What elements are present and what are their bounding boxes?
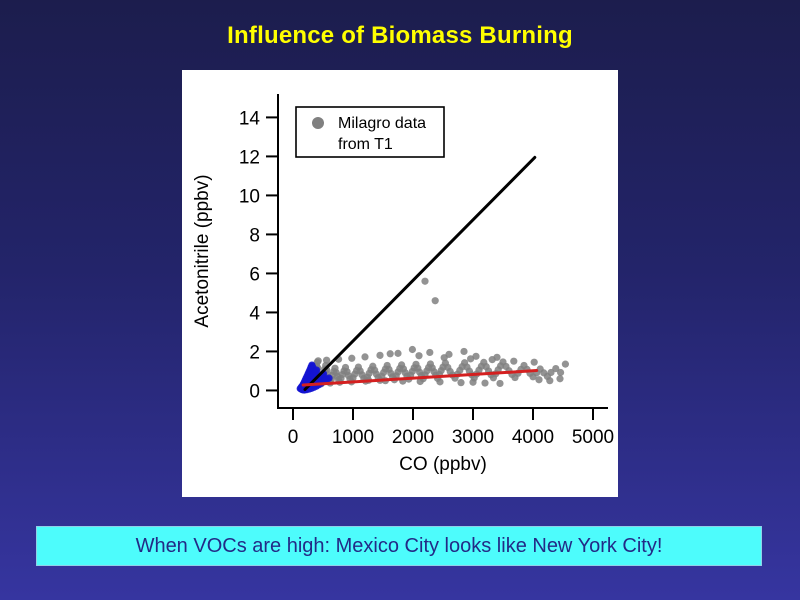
x-tick-label: 0: [288, 427, 299, 448]
x-tick-label: 4000: [512, 427, 554, 448]
data-point: [460, 348, 467, 355]
y-tick-label: 10: [239, 186, 260, 207]
data-point: [361, 353, 368, 360]
data-point: [467, 355, 474, 362]
data-point: [510, 358, 517, 365]
y-tick-label: 6: [249, 264, 260, 285]
data-point: [469, 379, 476, 386]
data-point: [531, 359, 538, 366]
takeaway-text: When VOCs are high: Mexico City looks li…: [136, 535, 663, 558]
y-axis-label: Acetonitrile (ppbv): [192, 174, 213, 327]
data-point: [387, 350, 394, 357]
legend-marker-icon: [312, 117, 324, 129]
data-point: [496, 380, 503, 387]
data-point: [323, 357, 330, 364]
data-point: [421, 278, 428, 285]
data-point: [432, 297, 439, 304]
y-tick-label: 12: [239, 147, 260, 168]
y-tick-label: 0: [249, 381, 260, 402]
chart-legend: Milagro data from T1: [296, 107, 444, 157]
data-point: [546, 377, 553, 384]
data-point: [409, 346, 416, 353]
data-point: [325, 375, 332, 382]
data-point: [535, 376, 542, 383]
x-tick-label: 2000: [392, 427, 434, 448]
x-tick-label: 5000: [572, 427, 614, 448]
data-point: [562, 361, 569, 368]
x-tick-label: 1000: [332, 427, 374, 448]
data-point: [315, 357, 322, 364]
x-axis-label: CO (ppbv): [399, 454, 487, 475]
page-title: Influence of Biomass Burning: [0, 22, 800, 50]
data-point: [415, 352, 422, 359]
chart-panel: 02468101214 010002000300040005000 CO (pp…: [182, 70, 618, 497]
data-point: [426, 349, 433, 356]
y-tick-label: 14: [239, 108, 261, 129]
x-tick-label: 3000: [452, 427, 494, 448]
legend-label-line1: Milagro data: [338, 115, 426, 132]
data-point: [441, 354, 448, 361]
data-point: [376, 352, 383, 359]
legend-label-line2: from T1: [338, 136, 393, 153]
data-point: [481, 379, 488, 386]
takeaway-banner: When VOCs are high: Mexico City looks li…: [36, 526, 762, 566]
scatter-chart: 02468101214 010002000300040005000 CO (pp…: [182, 70, 618, 497]
data-point: [436, 378, 443, 385]
data-point: [394, 350, 401, 357]
data-point: [313, 367, 320, 374]
y-tick-label: 8: [249, 225, 260, 246]
y-tick-label: 2: [249, 342, 260, 363]
data-point: [457, 379, 464, 386]
data-point: [556, 375, 563, 382]
data-point: [557, 369, 564, 376]
data-point: [348, 355, 355, 362]
data-point: [489, 356, 496, 363]
y-tick-label: 4: [249, 303, 260, 324]
